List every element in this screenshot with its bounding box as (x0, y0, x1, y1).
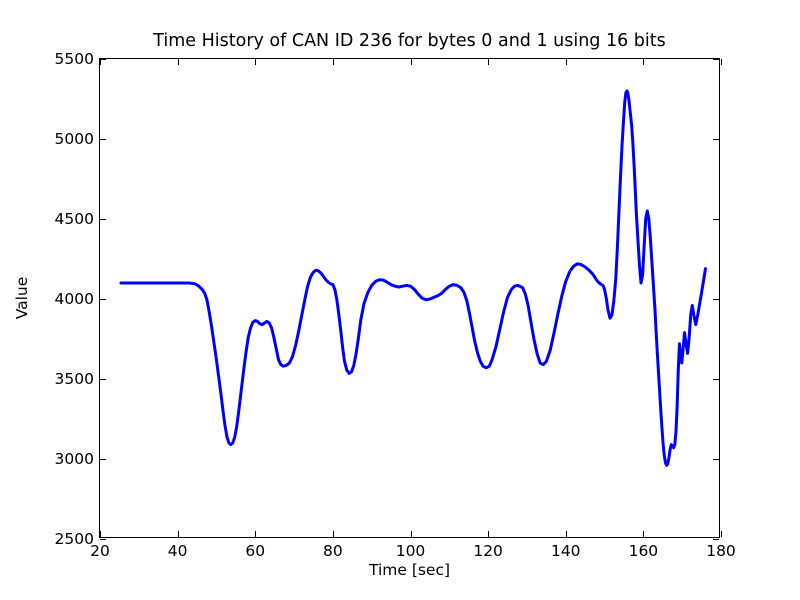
x-axis-label: Time [sec] (99, 561, 720, 579)
y-axis-tick (100, 219, 106, 220)
y-axis-tick-right (713, 459, 719, 460)
x-axis-tick-label: 60 (245, 542, 265, 560)
x-axis-tick (411, 531, 412, 537)
x-axis-tick-label: 160 (629, 542, 659, 560)
y-axis-tick-right (713, 379, 719, 380)
x-axis-tick-top (488, 59, 489, 65)
x-axis-tick-top (178, 59, 179, 65)
x-axis-tick-top (100, 59, 101, 65)
y-axis-tick-right (713, 219, 719, 220)
x-axis-tick (100, 531, 101, 537)
x-axis-tick (178, 531, 179, 537)
x-axis-tick (255, 531, 256, 537)
x-axis-tick-label: 80 (323, 542, 343, 560)
x-axis-tick-top (333, 59, 334, 65)
y-axis-tick-label: 2500 (55, 530, 94, 548)
y-axis-tick-right (713, 299, 719, 300)
y-axis-label: Value (13, 277, 31, 320)
x-axis-tick-label: 20 (90, 542, 110, 560)
x-axis-tick (721, 531, 722, 537)
x-axis-tick (333, 531, 334, 537)
plot-axes-frame: 2500300035004000450050005500204060801001… (99, 58, 720, 538)
y-axis-tick (100, 379, 106, 380)
x-axis-tick-top (643, 59, 644, 65)
figure-canvas: Time History of CAN ID 236 for bytes 0 a… (0, 0, 800, 600)
x-axis-tick (643, 531, 644, 537)
x-axis-tick-label: 180 (706, 542, 736, 560)
y-axis-tick-right (713, 139, 719, 140)
chart-title: Time History of CAN ID 236 for bytes 0 a… (99, 30, 720, 52)
y-axis-tick-label: 3000 (55, 450, 94, 468)
x-axis-tick-top (411, 59, 412, 65)
x-axis-tick-label: 120 (473, 542, 503, 560)
y-axis-tick-right (713, 539, 719, 540)
x-axis-tick (566, 531, 567, 537)
y-axis-tick-label: 4500 (55, 210, 94, 228)
y-axis-tick-label: 5000 (55, 130, 94, 148)
x-axis-tick (488, 531, 489, 537)
y-axis-tick (100, 539, 106, 540)
x-axis-tick-label: 100 (396, 542, 426, 560)
y-axis-tick (100, 299, 106, 300)
series-line-can-236 (121, 91, 706, 465)
y-axis-tick-label: 4000 (55, 290, 94, 308)
x-axis-tick-top (566, 59, 567, 65)
data-line-svg (100, 59, 721, 539)
x-axis-tick-label: 40 (168, 542, 188, 560)
y-axis-tick-label: 3500 (55, 370, 94, 388)
y-axis-tick (100, 139, 106, 140)
x-axis-tick-label: 140 (551, 542, 581, 560)
x-axis-tick-top (721, 59, 722, 65)
x-axis-tick-top (255, 59, 256, 65)
y-axis-tick-right (713, 59, 719, 60)
y-axis-tick (100, 459, 106, 460)
y-axis-tick-label: 5500 (55, 50, 94, 68)
